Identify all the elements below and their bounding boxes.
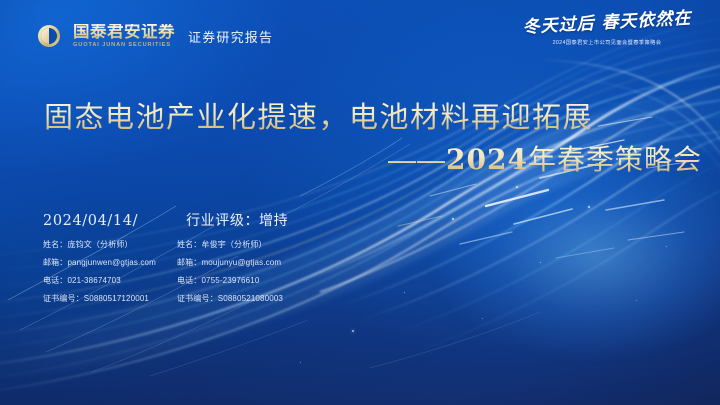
logo-company-name-en: GUOTAI JUNAN SECURITIES [73,43,175,49]
event-calligraphy-block: 冬天过后 春天依然在 2024国泰君安上市公司见面会暨春季策略会 [512,14,702,46]
logo-company-name-cn: 国泰君安证券 [73,24,175,41]
analyst-phone: 电话：0755-23976610 [177,277,311,285]
title-block: 固态电池产业化提速，电池材料再迎拓展 ——2024年春季策略会 [0,100,702,177]
event-subtitle: 2024国泰君安上市公司见面会暨春季策略会 [514,38,700,46]
subtitle-rest: 年春季策略会 [528,144,702,175]
analyst-card: 姓名：庞钧文（分析师） 邮箱：pangjunwen@gtjas.com 电话：0… [43,241,177,303]
page-title: 固态电池产业化提速，电池材料再迎拓展 [0,100,702,136]
analyst-list: 姓名：庞钧文（分析师） 邮箱：pangjunwen@gtjas.com 电话：0… [43,241,311,303]
presentation-slide: 国泰君安证券 GUOTAI JUNAN SECURITIES 证券研究报告 冬天… [0,0,720,405]
industry-rating: 行业评级：增持 [186,210,288,230]
analyst-phone: 电话：021-38674703 [43,277,177,285]
wave-glow [430,150,720,360]
subtitle-year: 2024 [446,143,528,176]
subtitle-dash: —— [388,144,446,175]
analyst-card: 姓名：牟俊宇（分析师） 邮箱：moujunyu@gtjas.com 电话：075… [177,241,311,303]
logo-text-block: 国泰君安证券 GUOTAI JUNAN SECURITIES [73,24,175,48]
report-type-label: 证券研究报告 [188,27,273,46]
meta-row: 2024/04/14/ 行业评级：增持 [43,210,288,230]
analyst-email: 邮箱：moujunyu@gtjas.com [177,259,311,267]
event-slogan: 冬天过后 春天依然在 [512,9,703,39]
analyst-cert: 证书编号：S0880521080003 [177,295,311,303]
analyst-name: 姓名：庞钧文（分析师） [43,241,177,249]
company-logo-icon [38,25,60,47]
analyst-name: 姓名：牟俊宇（分析师） [177,241,311,249]
analyst-cert: 证书编号：S0880517120001 [43,295,177,303]
page-subtitle: ——2024年春季策略会 [0,143,702,177]
report-date: 2024/04/14/ [43,213,138,229]
analyst-email: 邮箱：pangjunwen@gtjas.com [43,259,177,267]
brand-header: 国泰君安证券 GUOTAI JUNAN SECURITIES 证券研究报告 [38,24,273,48]
